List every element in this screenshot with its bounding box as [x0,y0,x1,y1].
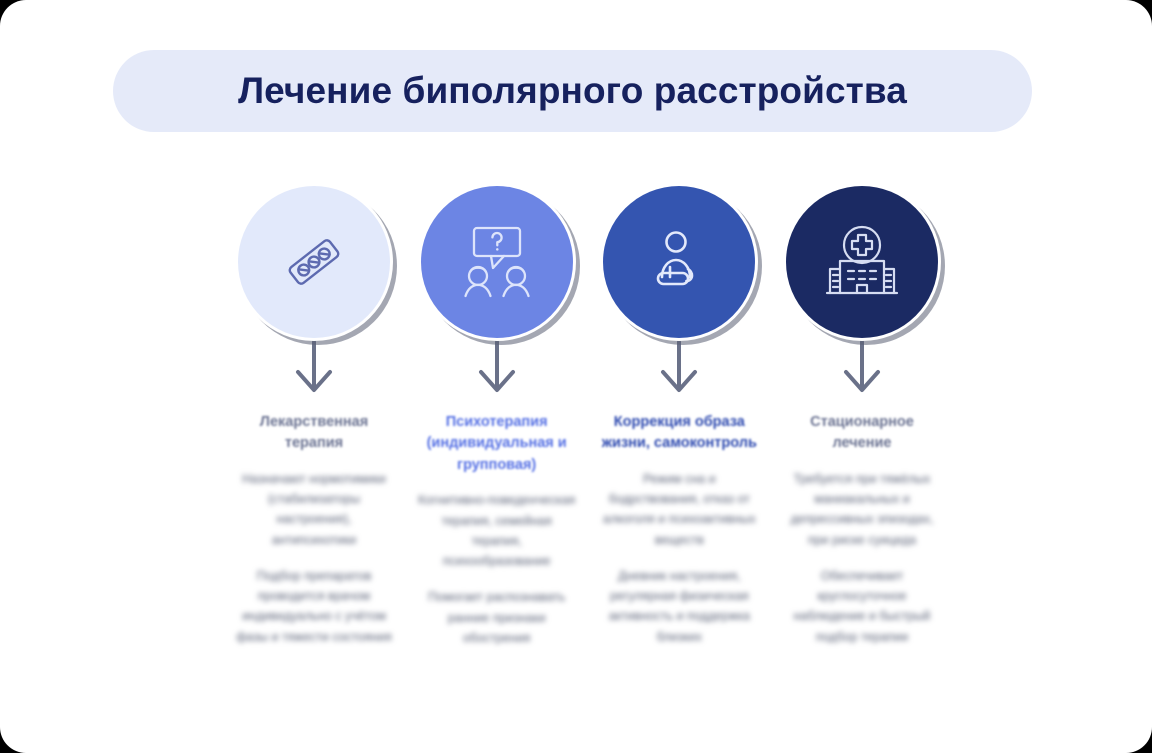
column-paragraph: Помогает распознавать ранние признаки об… [417,587,577,648]
column-paragraph: Когнитивно-поведенческая терапия, семейн… [417,490,577,571]
column-body-1: Назначают нормотимики (стабилизаторы нас… [234,469,394,647]
connector-arrow-1 [292,338,336,402]
infographic-page: Лечение биполярного расстройства [0,0,1152,753]
treatment-column-3: Коррекция образа жизни, самоконтроль Реж… [596,186,762,726]
column-body-3: Режим сна и бодрствования, отказ от алко… [599,469,759,647]
treatment-column-2: Психотерапия (индивидуальная и групповая… [414,186,580,726]
connector-arrow-4 [840,338,884,402]
treatment-column-4: Стационарное лечение Требуется при тяжёл… [779,186,945,726]
column-paragraph: Подбор препаратов проводится врачом инди… [234,566,394,647]
column-paragraph: Обеспечивает круглосуточное наблюдение и… [782,566,942,647]
badge-inpatient[interactable] [786,186,938,338]
badge-lifestyle[interactable] [603,186,755,338]
column-paragraph: Дневник настроения, регулярная физическа… [599,566,759,647]
column-paragraph: Назначают нормотимики (стабилизаторы нас… [234,469,394,550]
counselling-speech-bubble-icon [454,222,540,302]
column-heading-1: Лекарственная терапия [234,412,394,455]
column-body-2: Когнитивно-поведенческая терапия, семейн… [417,490,577,648]
badge-medication[interactable] [238,186,390,338]
treatment-columns: Лекарственная терапия Назначают нормотим… [231,186,945,726]
column-heading-3: Коррекция образа жизни, самоконтроль [599,412,759,455]
title-banner: Лечение биполярного расстройства [113,50,1032,132]
column-paragraph: Режим сна и бодрствования, отказ от алко… [599,469,759,550]
badge-psychotherapy[interactable] [421,186,573,338]
connector-arrow-2 [475,338,519,402]
column-heading-2: Психотерапия (индивидуальная и групповая… [417,412,577,476]
column-body-4: Требуется при тяжёлых маниакальных и деп… [782,469,942,647]
column-heading-4: Стационарное лечение [782,412,942,455]
page-title: Лечение биполярного расстройства [238,70,907,112]
column-paragraph: Требуется при тяжёлых маниакальных и деп… [782,469,942,550]
meditating-person-icon [642,225,716,299]
hospital-building-icon [822,223,902,301]
connector-arrow-3 [657,338,701,402]
treatment-column-1: Лекарственная терапия Назначают нормотим… [231,186,397,726]
pill-blister-pack-icon [276,224,352,300]
